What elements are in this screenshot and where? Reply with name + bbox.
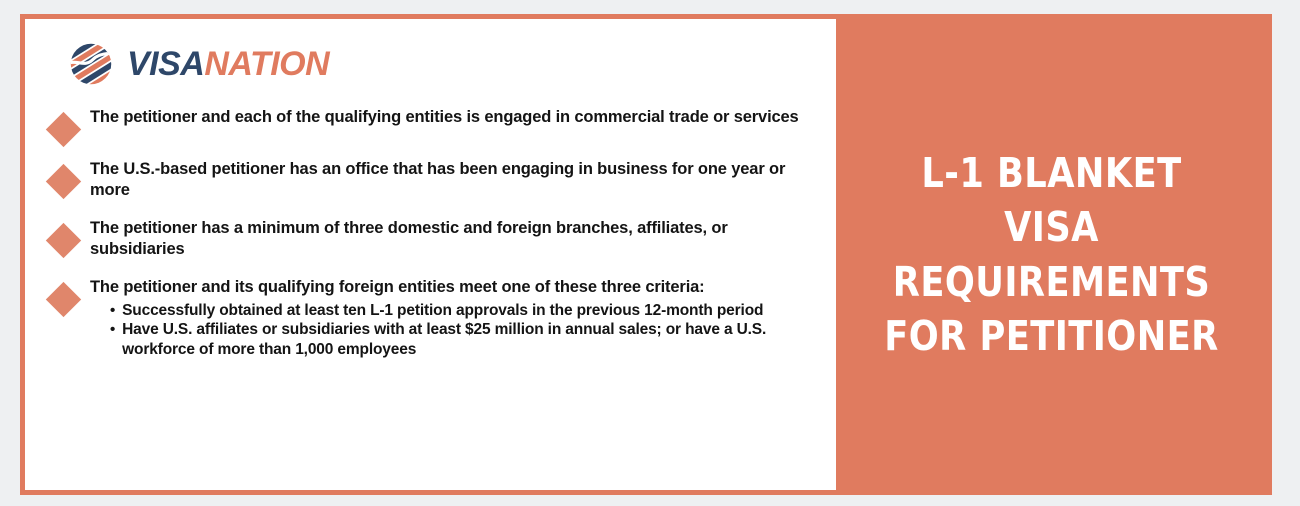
diamond-bullet-icon [46, 223, 81, 258]
requirement-body: The petitioner and each of the qualifyin… [90, 107, 818, 128]
requirement-item: The petitioner and each of the qualifyin… [47, 107, 818, 142]
requirement-text: The petitioner and each of the qualifyin… [90, 107, 818, 128]
sub-list-item-text: Successfully obtained at least ten L-1 p… [122, 301, 763, 321]
brand-name-visa: VISA [127, 45, 204, 83]
title-panel: L-1 BLANKET VISA REQUIREMENTS FOR PETITI… [836, 19, 1267, 490]
brand-logo: VISANATION [47, 35, 818, 93]
requirements-list: The petitioner and each of the qualifyin… [47, 107, 818, 360]
requirement-item: The petitioner and its qualifying foreig… [47, 277, 818, 360]
brand-name-nation: NATION [204, 45, 329, 83]
infographic-card: VISANATION The petitioner and each of th… [20, 14, 1272, 495]
brand-wordmark: VISANATION [127, 47, 329, 81]
sub-bullet-dot-icon: • [110, 301, 115, 320]
requirement-text: The petitioner and its qualifying foreig… [90, 277, 818, 298]
requirement-sub-list: • Successfully obtained at least ten L-1… [90, 301, 818, 360]
requirement-body: The petitioner has a minimum of three do… [90, 218, 818, 260]
requirements-content-column: VISANATION The petitioner and each of th… [25, 19, 836, 490]
globe-icon [69, 42, 113, 86]
requirement-text: The U.S.-based petitioner has an office … [90, 159, 818, 201]
diamond-bullet-icon [46, 164, 81, 199]
sub-bullet-dot-icon: • [110, 320, 115, 339]
requirement-body: The U.S.-based petitioner has an office … [90, 159, 818, 201]
requirement-item: The U.S.-based petitioner has an office … [47, 159, 818, 201]
requirement-body: The petitioner and its qualifying foreig… [90, 277, 818, 360]
diamond-bullet-icon [46, 282, 81, 317]
sub-list-item: • Have U.S. affiliates or subsidiaries w… [110, 320, 818, 360]
requirement-text: The petitioner has a minimum of three do… [90, 218, 818, 260]
page-title: L-1 BLANKET VISA REQUIREMENTS FOR PETITI… [878, 146, 1225, 362]
sub-list-item-text: Have U.S. affiliates or subsidiaries wit… [122, 320, 818, 360]
sub-list-item: • Successfully obtained at least ten L-1… [110, 301, 818, 321]
requirement-item: The petitioner has a minimum of three do… [47, 218, 818, 260]
diamond-bullet-icon [46, 112, 81, 147]
